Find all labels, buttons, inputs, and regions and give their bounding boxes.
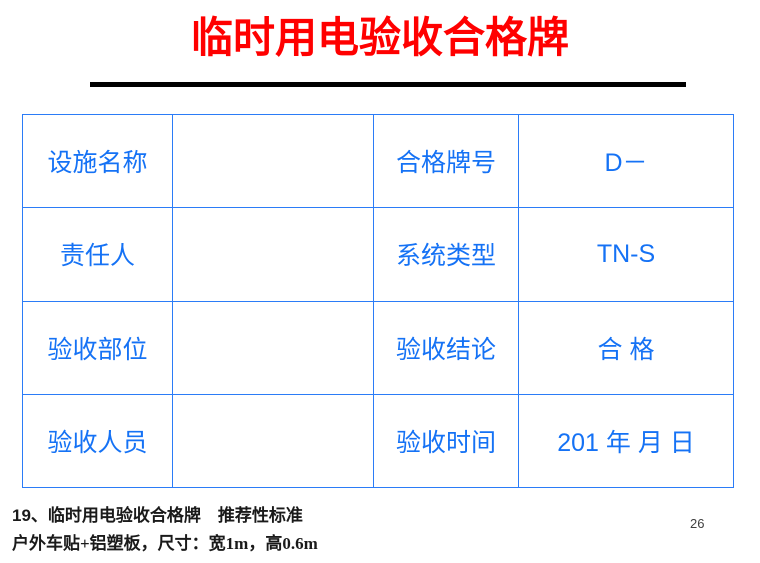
row-1-label-right: 系统类型 <box>374 208 519 301</box>
row-3-label-left: 验收人员 <box>23 394 173 487</box>
acceptance-certificate-table: 设施名称 合格牌号 D－ 责任人 系统类型 TN-S 验收部位 验收结论 合 格… <box>22 114 734 488</box>
title-divider-rule <box>90 82 686 87</box>
row-2-label-left: 验收部位 <box>23 301 173 394</box>
row-1-value-left[interactable] <box>173 208 374 301</box>
row-3-value-right[interactable]: 201 年 月 日 <box>519 394 734 487</box>
footer-item-number: 19 <box>12 506 31 525</box>
row-1-value-right[interactable]: TN-S <box>519 208 734 301</box>
row-2-value-right[interactable]: 合 格 <box>519 301 734 394</box>
table-row: 验收人员 验收时间 201 年 月 日 <box>23 394 734 487</box>
row-0-value-right[interactable]: D－ <box>519 115 734 208</box>
row-3-value-left[interactable] <box>173 394 374 487</box>
table-row: 验收部位 验收结论 合 格 <box>23 301 734 394</box>
row-0-label-left: 设施名称 <box>23 115 173 208</box>
table-row: 责任人 系统类型 TN-S <box>23 208 734 301</box>
table-row: 设施名称 合格牌号 D－ <box>23 115 734 208</box>
footer-line-2: 户外车贴+铝塑板，尺寸：宽1m，高0.6m <box>12 530 512 558</box>
row-0-value-left[interactable] <box>173 115 374 208</box>
footer-caption: 19、临时用电验收合格牌 推荐性标准 户外车贴+铝塑板，尺寸：宽1m，高0.6m <box>12 502 512 558</box>
row-0-label-right: 合格牌号 <box>374 115 519 208</box>
page-number: 26 <box>690 516 704 531</box>
page-title: 临时用电验收合格牌 <box>0 12 760 64</box>
row-2-value-left[interactable] <box>173 301 374 394</box>
row-2-label-right: 验收结论 <box>374 301 519 394</box>
row-1-label-left: 责任人 <box>23 208 173 301</box>
footer-line-1-text: 、临时用电验收合格牌 推荐性标准 <box>31 506 303 525</box>
footer-line-1: 19、临时用电验收合格牌 推荐性标准 <box>12 502 512 530</box>
row-3-label-right: 验收时间 <box>374 394 519 487</box>
